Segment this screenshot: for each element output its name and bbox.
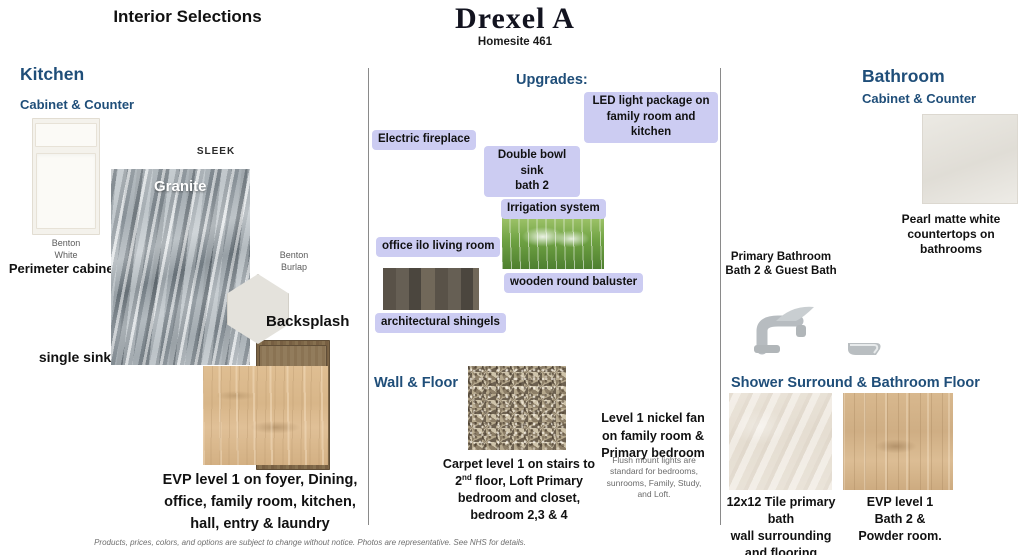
pearl-countertop-swatch [922, 114, 1018, 204]
upgrade-chip-led: LED light package on family room and kit… [584, 92, 718, 143]
upgrade-chip-office: office ilo living room [376, 236, 500, 257]
kitchen-heading: Kitchen [20, 64, 84, 85]
footer-disclaimer: Products, prices, colors, and options ar… [90, 538, 530, 547]
carpet-caption-post: floor, Loft Primary bedroom and closet, … [458, 474, 583, 522]
selection-board: Interior Selections Drexel A Homesite 46… [0, 0, 1024, 555]
bathroom-cabinet-caption: Primary Bathroom Bath 2 & Guest Bath [722, 250, 840, 279]
upgrade-chip-fireplace: Electric fireplace [372, 129, 476, 150]
architectural-shingles-swatch [383, 268, 479, 310]
bathroom-heading: Bathroom [862, 66, 945, 87]
backsplash-label: Backsplash [266, 313, 349, 330]
divider-left [368, 68, 369, 525]
upgrades-heading: Upgrades: [516, 72, 588, 88]
plan-name-title: Drexel A [380, 2, 650, 36]
lavatory-faucet-image [752, 295, 836, 355]
bath-evp-caption: EVP level 1 Bath 2 & Powder room. [848, 494, 952, 545]
bathroom-subheading: Cabinet & Counter [862, 91, 976, 106]
cabinet-door-benton-white [32, 118, 100, 235]
upgrade-chip-baluster: wooden round baluster [504, 272, 643, 293]
upgrade-chip-double-sink: Double bowl sink bath 2 [484, 146, 580, 197]
kitchen-subheading: Cabinet & Counter [20, 97, 134, 112]
perimeter-cabinet-caption: Perimeter cabinets [6, 261, 128, 277]
sink-caption: single sink [8, 349, 142, 367]
tub-spout-image [846, 340, 884, 358]
faucet-model-label: SLEEK [180, 146, 252, 157]
homesite-label: Homesite 461 [380, 36, 650, 48]
bath-evp-swatch [843, 393, 953, 490]
wall-floor-heading: Wall & Floor [374, 375, 458, 391]
carpet-swatch [468, 366, 566, 450]
irrigation-image [502, 217, 604, 269]
shower-surround-heading: Shower Surround & Bathroom Floor [731, 375, 980, 391]
divider-right [720, 68, 721, 525]
board-title: Interior Selections [60, 7, 315, 27]
granite-countertop-swatch [111, 169, 250, 365]
tile-swatch [729, 393, 832, 490]
perimeter-cabinet-name: Benton White [22, 238, 110, 261]
flush-mount-note: Flush mount lights are standard for bedr… [600, 455, 708, 501]
carpet-caption: Carpet level 1 on stairs to 2nd floor, L… [434, 456, 604, 524]
carpet-caption-sup: nd [462, 473, 472, 482]
upgrade-chip-irrigation: Irrigation system [501, 198, 606, 219]
tile-caption: 12x12 Tile primary bath wall surrounding… [716, 494, 846, 555]
countertop-label: Granite [154, 178, 207, 195]
island-cabinet-name: Benton Burlap [248, 250, 340, 273]
evp-flooring-swatch [203, 366, 328, 465]
pearl-countertop-caption: Pearl matte white countertops on bathroo… [880, 212, 1022, 257]
evp-flooring-caption: EVP level 1 on foyer, Dining, office, fa… [157, 470, 363, 535]
upgrade-chip-shingles: architectural shingels [375, 312, 506, 333]
